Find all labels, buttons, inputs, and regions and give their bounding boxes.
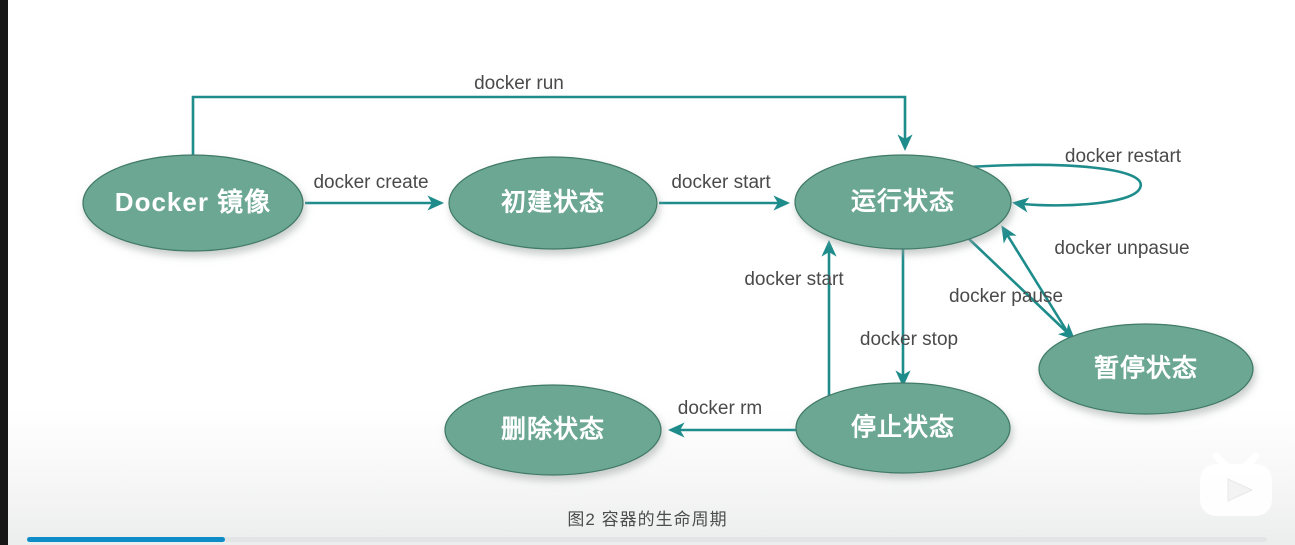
node-label-created-state: 初建状态 (501, 189, 605, 217)
node-stopped-state[interactable]: 停止状态 (796, 383, 1010, 473)
node-running-state[interactable]: 运行状态 (795, 155, 1011, 249)
node-removed-state[interactable]: 删除状态 (445, 385, 661, 475)
bilibili-tv-play-icon (1192, 448, 1280, 528)
container-lifecycle-diagram: Docker 镜像 初建状态 运行状态 暂停状态 停止状态 删除状态 docke… (0, 0, 1295, 545)
node-label-removed-state: 删除状态 (501, 415, 605, 444)
video-frame: Docker 镜像 初建状态 运行状态 暂停状态 停止状态 删除状态 docke… (0, 0, 1295, 545)
edge-label-docker-pause: docker pause (949, 286, 1063, 307)
node-created-state[interactable]: 初建状态 (449, 157, 657, 249)
node-docker-image[interactable]: Docker 镜像 (83, 155, 303, 251)
edge-label-docker-start-stopped: docker start (744, 269, 844, 290)
video-progress-track[interactable] (27, 537, 1267, 542)
node-label-paused-state: 暂停状态 (1094, 354, 1198, 383)
node-paused-state[interactable]: 暂停状态 (1039, 324, 1253, 414)
edge-docker-run (193, 97, 905, 155)
edge-label-docker-stop: docker stop (860, 329, 958, 350)
video-progress-fill[interactable] (27, 537, 225, 542)
edge-label-docker-create: docker create (313, 172, 428, 193)
edge-label-docker-restart: docker restart (1065, 146, 1182, 167)
node-label-running-state: 运行状态 (851, 188, 955, 216)
edge-label-docker-start-created: docker start (671, 172, 771, 193)
figure-caption: 图2 容器的生命周期 (0, 505, 1295, 530)
node-label-stopped-state: 停止状态 (851, 413, 955, 442)
node-label-docker-image: Docker 镜像 (115, 187, 271, 217)
edge-label-docker-unpause: docker unpasue (1054, 238, 1189, 259)
edge-label-docker-run: docker run (474, 73, 564, 94)
edge-label-docker-rm: docker rm (678, 398, 762, 419)
